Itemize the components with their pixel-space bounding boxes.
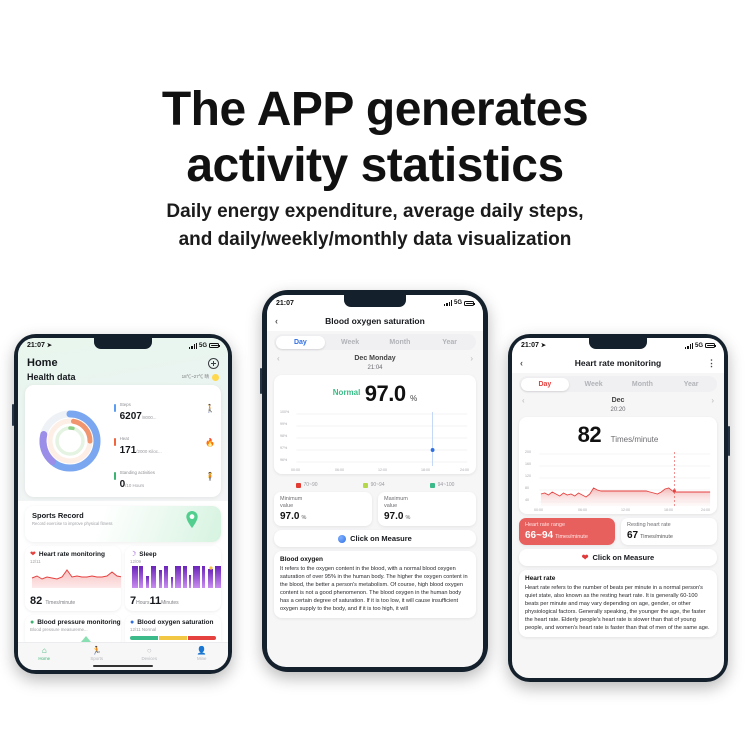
- home-heading: Home: [27, 357, 58, 369]
- y-tick-label: 99%: [280, 422, 287, 426]
- spo2-info-card: Blood oxygen It refers to the oxygen con…: [274, 551, 476, 618]
- resting-heart-rate-box: Resting heart rate 67Times/minute: [621, 518, 717, 545]
- prev-date-button[interactable]: ‹: [277, 354, 280, 363]
- measure-button[interactable]: ❤ Click on Measure: [519, 549, 717, 566]
- person-icon: 👤: [176, 646, 229, 656]
- metric-color-tick: [114, 472, 116, 480]
- minimum-label-1: Minimum: [280, 496, 366, 503]
- tab-label: Mine: [176, 656, 229, 661]
- tab-label: Sports: [71, 656, 124, 661]
- prev-date-button[interactable]: ‹: [522, 396, 525, 405]
- stand-icon: 🧍: [205, 472, 215, 481]
- home-title-row: Home: [18, 353, 228, 371]
- range-label: Heart rate range: [525, 522, 609, 529]
- screen-title: Blood oxygen saturation: [285, 316, 465, 326]
- location-arrow-icon: ➤: [47, 342, 52, 349]
- legend-item: 94~100: [430, 482, 455, 488]
- current-date: Dec: [612, 397, 625, 404]
- hr-info-card: Heart rate Heart rate refers to the numb…: [519, 570, 717, 637]
- minimum-unit: %: [301, 515, 306, 521]
- y-tick-label: 80: [525, 486, 529, 490]
- card-title: Sleep: [139, 551, 156, 558]
- hr-chart[interactable]: 200 160 120 80 40 00:00 06:00 12:00 18:0…: [524, 450, 712, 512]
- status-badge: Normal: [333, 388, 361, 397]
- measure-button-label: Click on Measure: [593, 553, 655, 562]
- tab-month[interactable]: Month: [375, 336, 425, 349]
- metric-steps: Steps 6207/8000... 🚶: [114, 393, 215, 423]
- card-unit: Times/minute: [45, 600, 75, 606]
- card-title: Heart rate monitoring: [39, 551, 105, 558]
- weather-text: 18℃~27℃ 晴: [182, 374, 209, 380]
- tab-devices[interactable]: ○ Devices: [123, 646, 176, 661]
- spo2-icon: ●: [130, 619, 134, 626]
- sports-icon: 🏃: [71, 646, 124, 656]
- date-nav: ‹ Dec Monday ›: [267, 350, 483, 363]
- phone-side-button: [728, 426, 730, 456]
- phone-spo2: 21:07 5G ‹ Blood oxygen saturation Day W…: [262, 290, 488, 672]
- tab-week[interactable]: Week: [325, 336, 375, 349]
- x-tick-label: 24:00: [460, 468, 469, 472]
- card-unit-2: Minutes: [161, 600, 179, 606]
- app-bar: ‹ Blood oxygen saturation: [267, 311, 483, 331]
- spo2-measure-icon: [338, 535, 346, 543]
- activity-rings: [31, 391, 109, 491]
- back-chevron-icon[interactable]: ‹: [275, 316, 285, 326]
- metric-name: Steps: [120, 402, 131, 407]
- range-unit: Times/minute: [555, 534, 588, 540]
- battery-icon: [209, 343, 219, 348]
- network-label: 5G: [199, 343, 207, 349]
- status-time: 21:07: [27, 342, 45, 349]
- minimum-value: 97.0: [280, 511, 299, 522]
- info-title: Blood oxygen: [280, 556, 470, 563]
- card-unit: Hours: [136, 600, 149, 606]
- legend-label: 90~94: [371, 482, 385, 488]
- phone-notch: [344, 295, 406, 307]
- card-heart-rate[interactable]: ❤ Heart rate monitoring 12/11 82 Times/m…: [25, 546, 121, 611]
- phone-home-screen: 21:07 ➤ 5G Home Health data: [18, 338, 228, 670]
- home-header: 21:07 ➤ 5G Home Health data: [18, 338, 228, 501]
- more-vertical-icon[interactable]: ⋮: [706, 358, 716, 369]
- phone-side-button: [260, 368, 262, 394]
- metric-standing: Standing activities 0/10 Hours 🧍: [114, 461, 215, 491]
- spo2-chart[interactable]: 100% 99% 98% 97% 96% 00:00 06:00 12:00 1…: [279, 410, 471, 472]
- phone-side-button: [12, 404, 14, 426]
- headline-line-1: The APP generates: [0, 82, 750, 138]
- metric-list: Steps 6207/8000... 🚶 Heat 171/2000 Kiloc…: [114, 391, 215, 491]
- spo2-chart-card: Normal 97.0 % 100% 99%: [274, 375, 476, 474]
- phone-notch: [589, 338, 647, 349]
- date-nav: ‹ Dec ›: [512, 392, 724, 405]
- heart-icon: ❤: [30, 550, 36, 558]
- maximum-box: Maximum value 97.0%: [378, 492, 476, 526]
- spo2-legend: 70~90 90~94 94~100: [267, 478, 483, 490]
- minimum-box: Minimum value 97.0%: [274, 492, 372, 526]
- card-sleep[interactable]: ☽ Sleep 12/09: [125, 546, 221, 611]
- resting-label: Resting heart rate: [627, 522, 711, 529]
- bp-icon: ●: [30, 619, 34, 626]
- x-tick-label: 12:00: [378, 468, 387, 472]
- maximum-value: 97.0: [384, 511, 403, 522]
- phone-spo2-screen: 21:07 5G ‹ Blood oxygen saturation Day W…: [267, 295, 483, 667]
- home-card-grid: ❤ Heart rate monitoring 12/11 82 Times/m…: [18, 542, 228, 647]
- x-tick-label: 00:00: [291, 468, 300, 472]
- info-title: Heart rate: [525, 575, 711, 582]
- tab-day[interactable]: Day: [276, 336, 326, 349]
- x-tick-label: 18:00: [421, 468, 430, 472]
- health-data-row: Health data 18℃~27℃ 晴: [18, 371, 228, 385]
- metric-sub: /10 Hours: [125, 483, 144, 488]
- hr-unit: Times/minute: [611, 435, 659, 444]
- status-time: 21:07: [521, 342, 539, 349]
- spo2-value: 97.0: [365, 381, 406, 406]
- measurement-time: 20:20: [512, 407, 724, 413]
- metric-value: 6207: [120, 411, 142, 422]
- flame-icon: 🔥: [205, 438, 215, 447]
- legend-item: 90~94: [363, 482, 385, 488]
- heart-icon: ❤: [582, 553, 589, 562]
- x-tick-label: 24:00: [701, 508, 710, 512]
- home-icon: ⌂: [18, 646, 71, 656]
- legend-label: 70~90: [304, 482, 318, 488]
- hr-value: 82: [578, 422, 601, 447]
- phone-heart-rate: 21:07 ➤ 5G ‹ Heart rate monitoring ⋮ Day…: [508, 334, 728, 682]
- current-date: Dec Monday: [354, 355, 395, 362]
- headline-line-2: activity statistics: [0, 138, 750, 194]
- phone-home: 21:07 ➤ 5G Home Health data: [14, 334, 232, 674]
- hr-chart-card: 82 Times/minute: [519, 417, 717, 514]
- weather-info: 18℃~27℃ 晴: [182, 374, 219, 381]
- card-value: 82: [30, 595, 42, 607]
- hr-value-row: 82 Times/minute: [519, 419, 717, 448]
- next-date-button[interactable]: ›: [711, 396, 714, 405]
- metric-name: Standing activities: [120, 470, 155, 475]
- info-text: It refers to the oxygen content in the b…: [280, 565, 470, 613]
- add-icon[interactable]: [208, 358, 219, 369]
- screen-title: Heart rate monitoring: [530, 358, 706, 368]
- tab-label: Devices: [123, 656, 176, 661]
- sleep-bars: [130, 566, 221, 588]
- sun-icon: [212, 374, 219, 381]
- y-tick-label: 120: [525, 474, 531, 478]
- moon-icon: ☽: [130, 550, 136, 558]
- maximum-label-1: Maximum: [384, 496, 470, 503]
- battery-icon: [464, 301, 474, 306]
- card-value-2: 11: [149, 595, 161, 607]
- app-bar: ‹ Heart rate monitoring ⋮: [512, 353, 724, 373]
- x-tick-label: 00:00: [534, 508, 543, 512]
- poster-root: The APP generates activity statistics Da…: [0, 0, 750, 750]
- maximum-unit: %: [405, 515, 410, 521]
- spo2-range-bars: [130, 636, 216, 640]
- tab-label: Home: [18, 656, 71, 661]
- card-subtitle: Blood pressure measureme...: [30, 627, 116, 632]
- network-label: 5G: [695, 343, 703, 349]
- status-time: 21:07: [276, 300, 294, 307]
- y-tick-label: 200: [525, 450, 531, 454]
- next-date-button[interactable]: ›: [470, 354, 473, 363]
- measure-button-label: Click on Measure: [350, 534, 412, 543]
- card-title: Blood pressure monitoring: [37, 619, 120, 626]
- metric-name: Heat: [120, 436, 129, 441]
- minimum-label-2: value: [280, 503, 366, 510]
- tab-day[interactable]: Day: [521, 378, 570, 391]
- sports-record-card[interactable]: Sports Record Record exercise to improve…: [25, 506, 221, 542]
- card-date: 12/11: [30, 559, 116, 564]
- walk-icon: 🚶: [205, 404, 215, 413]
- measure-button[interactable]: Click on Measure: [274, 530, 476, 547]
- health-summary-card[interactable]: Steps 6207/8000... 🚶 Heat 171/2000 Kiloc…: [25, 385, 221, 497]
- tab-mine[interactable]: 👤 Mine: [176, 646, 229, 661]
- signal-icon: [189, 343, 197, 349]
- battery-icon: [705, 343, 715, 348]
- card-title: Blood oxygen saturation: [137, 619, 213, 626]
- page-title: The APP generates activity statistics: [0, 82, 750, 194]
- x-tick-label: 12:00: [621, 508, 630, 512]
- tab-sports[interactable]: 🏃 Sports: [71, 646, 124, 661]
- y-tick-label: 40: [525, 498, 529, 502]
- minmax-row: Minimum value 97.0% Maximum value 97.0%: [274, 492, 476, 526]
- legend-label: 94~100: [438, 482, 455, 488]
- signal-icon: [685, 343, 693, 349]
- signal-icon: [444, 300, 452, 306]
- legend-item: 70~90: [296, 482, 318, 488]
- devices-icon: ○: [123, 646, 176, 656]
- subtitle-line-1: Daily energy expenditure, average daily …: [0, 198, 750, 226]
- tab-year[interactable]: Year: [425, 336, 475, 349]
- health-data-title: Health data: [27, 372, 76, 382]
- tab-month[interactable]: Month: [618, 378, 667, 391]
- spo2-unit: %: [410, 394, 417, 403]
- period-tabs: Day Week Month Year: [519, 376, 717, 392]
- tab-home[interactable]: ⌂ Home: [18, 646, 71, 661]
- phone-hr-screen: 21:07 ➤ 5G ‹ Heart rate monitoring ⋮ Day…: [512, 338, 724, 678]
- metric-sub: /8000...: [142, 415, 157, 420]
- measurement-time: 21:04: [267, 365, 483, 371]
- tab-year[interactable]: Year: [667, 378, 716, 391]
- location-arrow-icon: ➤: [541, 342, 546, 349]
- network-label: 5G: [454, 300, 462, 306]
- heart-rate-sparkline: [30, 566, 121, 588]
- maximum-label-2: value: [384, 503, 470, 510]
- x-tick-label: 18:00: [664, 508, 673, 512]
- resting-value: 67: [627, 530, 638, 541]
- x-tick-label: 06:00: [335, 468, 344, 472]
- y-tick-label: 97%: [280, 446, 287, 450]
- metric-color-tick: [114, 404, 116, 412]
- period-tabs: Day Week Month Year: [274, 334, 476, 350]
- back-chevron-icon[interactable]: ‹: [520, 358, 530, 368]
- resting-unit: Times/minute: [640, 534, 673, 540]
- phone-notch: [94, 338, 152, 349]
- y-tick-label: 160: [525, 462, 531, 466]
- range-value: 66~94: [525, 530, 553, 541]
- card-date: 12/09: [130, 559, 216, 564]
- home-indicator: [93, 665, 153, 668]
- metric-value: 171: [120, 445, 137, 456]
- heart-rate-range-box: Heart rate range 66~94Times/minute: [519, 518, 615, 545]
- y-tick-label: 98%: [280, 434, 287, 438]
- card-date: 12/11 Normal: [130, 627, 216, 632]
- info-text: Heart rate refers to the number of beats…: [525, 584, 711, 632]
- metric-color-tick: [114, 438, 116, 446]
- spo2-value-row: Normal 97.0 %: [274, 378, 476, 407]
- subtitle: Daily energy expenditure, average daily …: [0, 198, 750, 254]
- subtitle-line-2: and daily/weekly/monthly data visualizat…: [0, 226, 750, 254]
- y-tick-label: 100%: [280, 410, 289, 414]
- hr-stats-row: Heart rate range 66~94Times/minute Resti…: [519, 518, 717, 545]
- location-pin-icon: [185, 511, 199, 528]
- tab-week[interactable]: Week: [569, 378, 618, 391]
- metric-sub: /2000 Kiloc...: [136, 449, 161, 454]
- x-tick-label: 06:00: [578, 508, 587, 512]
- metric-heat: Heat 171/2000 Kiloc... 🔥: [114, 427, 215, 457]
- y-tick-label: 96%: [280, 458, 287, 462]
